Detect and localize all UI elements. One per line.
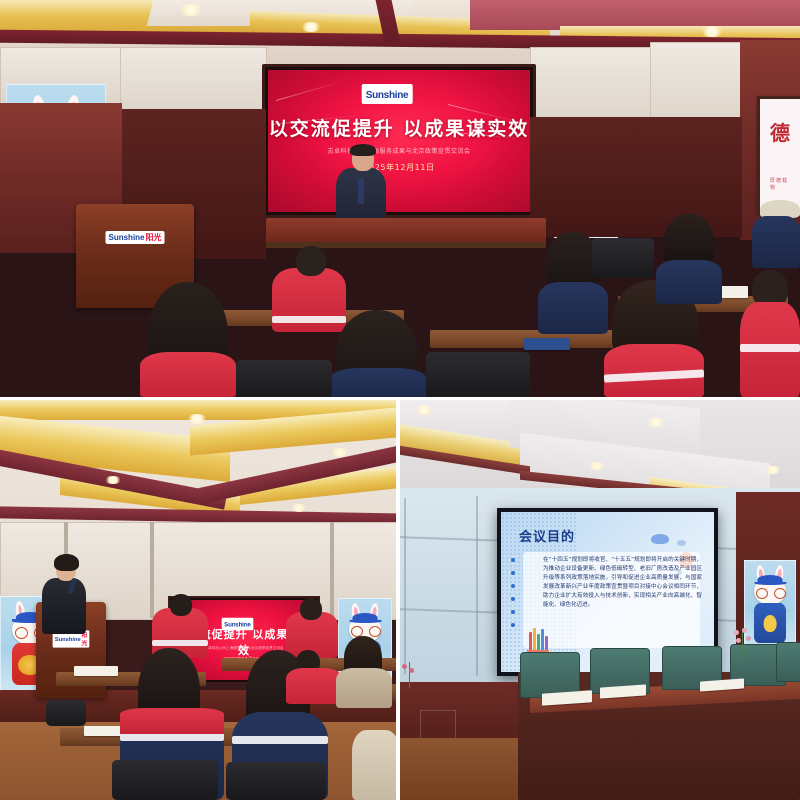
podium-wordmark-bl: Sunshine: [55, 636, 81, 642]
led-screen-frame: Sunshine 阳光 以交流促提升 以成果谋实效 志卓科技公司上海服务成果与北…: [262, 64, 536, 218]
downlight-bl-4: [290, 504, 308, 512]
wainscot-detail-panel: [420, 710, 456, 740]
downlight-bl-2: [330, 448, 350, 457]
flower-arrangement-br: [730, 628, 754, 658]
wall-panel-left-2: [120, 47, 267, 111]
audience-member-6-torso: [656, 260, 722, 304]
screen-title: 以交流促提升 以成果谋实效: [268, 114, 530, 141]
audience-bl-7-torso: [352, 730, 396, 800]
audience-member-3-torso: [330, 368, 426, 397]
downlight-br-2: [646, 418, 666, 427]
audience-member-4-torso: [538, 282, 608, 334]
downlight-br-5: [764, 466, 782, 474]
top-photo-male-speaker-presentation: 德 厚德载物 Sunshine 阳光 以交流促提升 以成果谋实效 志卓科技公司上…: [0, 0, 800, 397]
photo-collage: 德 厚德载物 Sunshine 阳光 以交流促提升 以成果谋实效 志卓科技公司上…: [0, 0, 800, 800]
slide-body-text: 在“十四五”规划即将收官、“十五五”规划即将开启的关键时期，为推动企业设备更新、…: [543, 556, 702, 610]
led-screen-display: Sunshine 阳光 以交流促提升 以成果谋实效 志卓科技公司上海服务成果与北…: [268, 70, 530, 212]
slide-bullet-6: [511, 623, 515, 627]
uniform-stripe-bl-1: [152, 640, 208, 646]
screen-subtitle: 志卓科技公司上海服务成果与北京政策宣贯交流会: [268, 146, 530, 155]
wall-panel-right-2: [650, 42, 742, 124]
slide-cloud-decoration-2: [677, 540, 686, 546]
audience-member-2-torso: [140, 352, 236, 397]
sunshine-logo-accent: 阳光: [414, 86, 436, 102]
chair-3: [592, 238, 654, 278]
slide-title: 会议目的: [519, 526, 575, 545]
audience-member-8-torso: [752, 216, 800, 268]
meeting-room-scene-bottom-left: Sunshine 阳光 以交流促提升 以成果谋实效 志卓科技公司上海服务成果与北…: [0, 400, 396, 800]
audience-bl-3-shoulders: [120, 708, 224, 734]
audience-bl-2-head: [300, 598, 322, 620]
wall-seam-3: [330, 522, 334, 618]
wall-seam-2: [150, 522, 154, 618]
microphone: [358, 178, 364, 204]
flower-arrangement-br-left: [400, 662, 418, 688]
audience-bl-5-torso: [286, 668, 342, 704]
notebook-bl-2: [84, 726, 124, 736]
slide-bullet-list: [511, 558, 515, 636]
chair-bl-2: [226, 762, 326, 800]
bottom-left-photo-female-speaker-podium: Sunshine 阳光 以交流促提升 以成果谋实效 志卓科技公司上海服务成果与北…: [0, 400, 396, 800]
wall-seam-br-v2: [404, 498, 406, 674]
slide-bullet-3: [511, 584, 515, 588]
calligraphy-subtitle: 厚德载物: [770, 177, 790, 191]
chair-bl-3: [46, 700, 86, 726]
rabbit-glasses-left: [756, 588, 768, 599]
audience-bl-1-head: [170, 594, 192, 616]
conference-chair-5[interactable]: [776, 642, 800, 682]
slide-bullet-2: [511, 571, 515, 575]
chair-bl-1: [112, 760, 218, 800]
chair-2: [236, 360, 332, 397]
meeting-room-scene-top: 德 厚德载物 Sunshine 阳光 以交流促提升 以成果谋实效 志卓科技公司上…: [0, 0, 800, 397]
wall-panel-right: [530, 47, 652, 119]
speaker-female-body: [42, 578, 86, 634]
uniform-stripe-7: [740, 344, 800, 352]
notebook-bl-1: [74, 666, 118, 676]
uniform-stripe-bl-4: [232, 736, 328, 744]
slide-bullet-5: [511, 610, 515, 614]
speaker-female-hair: [54, 554, 79, 571]
screen-date: 2025年12月11日: [268, 162, 530, 173]
downlight-br-3: [588, 462, 606, 470]
wall-wood-right-lower: [530, 117, 742, 237]
calligraphy-character: 德: [770, 117, 790, 146]
rabbit-glasses-right: [774, 588, 786, 599]
sunshine-logo-screen: Sunshine 阳光: [362, 84, 437, 104]
rabbit-body-blue-uniform: [754, 603, 786, 643]
wall-art-calligraphy: 德 厚德载物: [757, 96, 800, 214]
downlight-1: [178, 4, 204, 16]
bottom-right-photo-conference-room-slide: 会议目的 在“十四五”规划即将收官、“十五五”规划即将开启的关键时期，为推动企业…: [400, 400, 800, 800]
speaker-male-hair: [350, 144, 376, 156]
sunshine-logo-podium: Sunshine 阳光: [106, 231, 165, 244]
slide-cloud-decoration: [651, 534, 669, 544]
sunshine-wordmark: Sunshine: [366, 90, 409, 101]
slide-bullet-4: [511, 597, 515, 601]
audience-bl-6-torso: [336, 668, 392, 708]
uniform-stripe-1: [272, 316, 346, 323]
wall-seam-br-v1: [476, 496, 478, 676]
head-table: [266, 218, 546, 244]
downlight-bl-3: [104, 476, 122, 484]
slide-bullet-1: [511, 558, 515, 562]
rabbit-glasses-left: [15, 627, 28, 639]
podium-logo-accent: 阳光: [146, 232, 162, 243]
downlight-3: [300, 22, 322, 32]
rabbit-cap-icon: [758, 575, 783, 584]
podium-wordmark: Sunshine: [109, 233, 145, 242]
audience-member-1-head: [296, 246, 326, 276]
chair-1: [426, 352, 530, 397]
tablet-device: [524, 338, 570, 350]
conference-room-scene: 会议目的 在“十四五”规划即将收官、“十五五”规划即将开启的关键时期，为推动企业…: [400, 400, 800, 800]
downlight-bl-1: [186, 414, 208, 424]
downlight-br-1: [414, 406, 434, 415]
rabbit-cap-icon: [353, 613, 378, 622]
downlight-2: [700, 26, 724, 37]
rabbit-glasses-right: [369, 626, 381, 637]
